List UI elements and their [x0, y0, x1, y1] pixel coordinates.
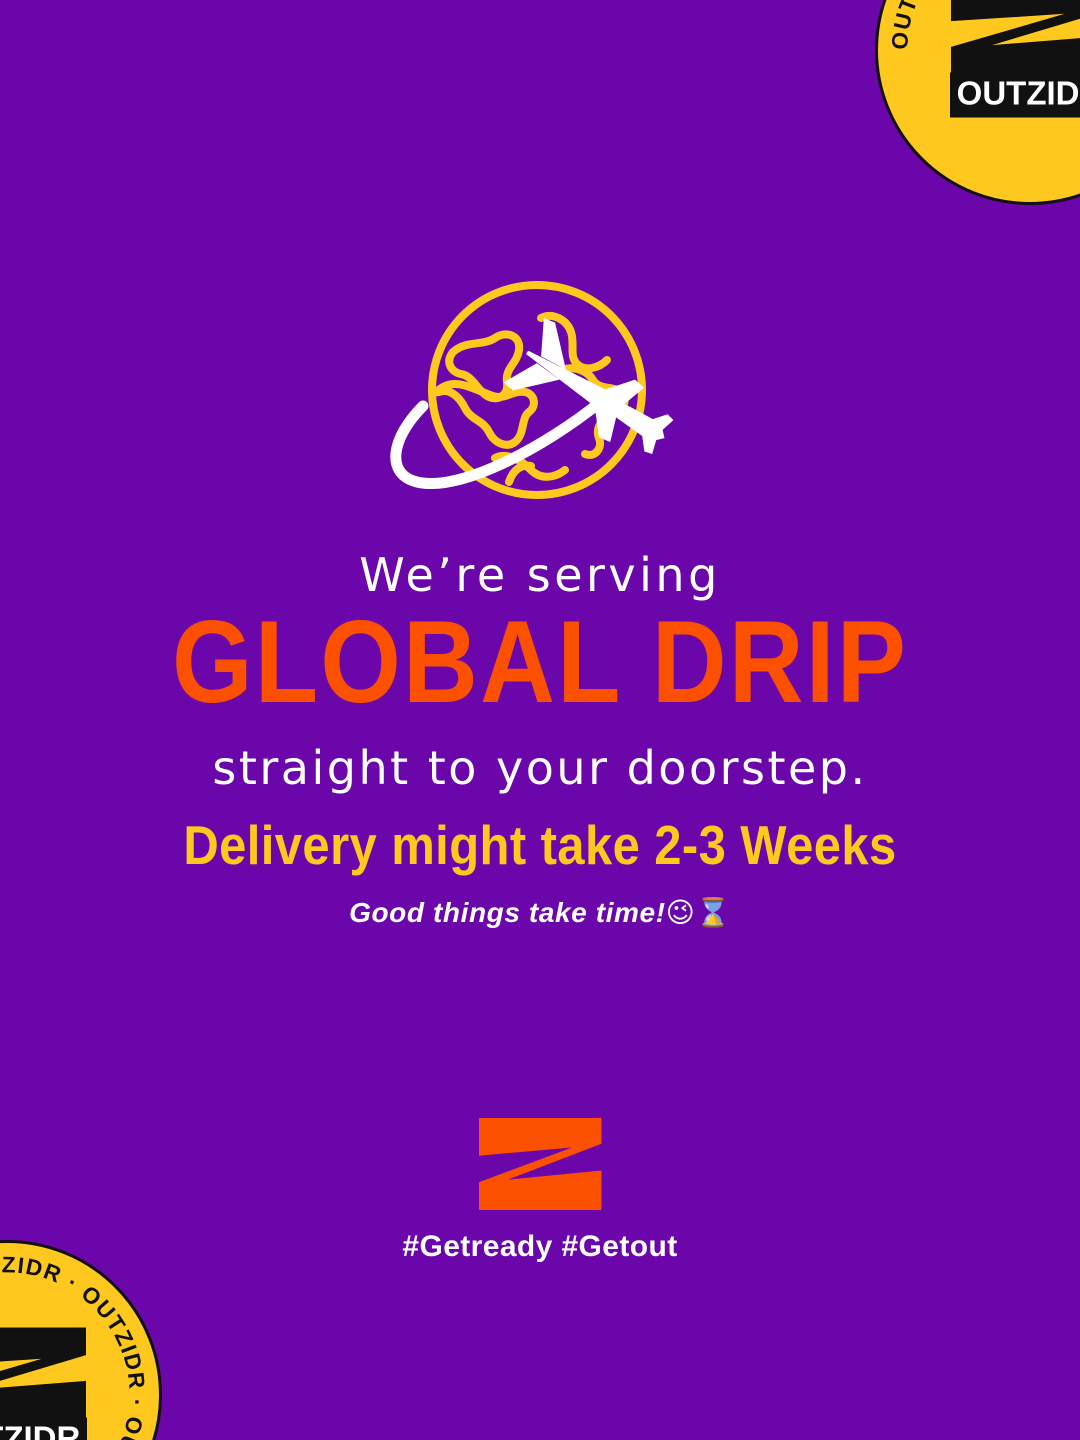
delivery-time-text: Delivery might take 2-3 Weeks	[0, 817, 1080, 877]
delivery-subtext: Good things take time!😉⌛	[0, 896, 1080, 929]
headline-block: We’re serving GLOBAL DRIP straight to yo…	[0, 550, 1080, 793]
headline-main-line: GLOBAL DRIP	[0, 604, 1080, 721]
outzidr-z-stamp-icon	[0, 1328, 86, 1420]
outzidr-z-logo-icon	[479, 1118, 602, 1210]
brand-hashtags: #Getready #Getout	[402, 1230, 677, 1264]
globe-with-airplane-icon	[355, 272, 725, 512]
badge-core-top-right: OUTZIDR	[942, 0, 1080, 117]
headline-pre-line: We’re serving	[0, 550, 1080, 601]
footer-brand-block: #Getready #Getout	[0, 1118, 1080, 1264]
promo-poster: OUTZIDR · OUTZIDR · OUTZIDR · OUTZIDR · …	[0, 0, 1080, 1440]
delivery-subtext-label: Good things take time!	[349, 897, 666, 928]
globe-continent-africa	[437, 384, 534, 445]
badge-core-bottom-left: OUTZIDR	[0, 1328, 95, 1440]
corner-badge-bottom-left: OUTZIDR · OUTZIDR · OUTZIDR · OUTZIDR · …	[0, 1240, 162, 1440]
wink-face-icon: 😉	[666, 896, 696, 929]
badge-center-word: OUTZIDR	[0, 1418, 87, 1440]
delivery-notice-block: Delivery might take 2-3 Weeks Good thing…	[0, 820, 1080, 929]
corner-badge-top-right: OUTZIDR · OUTZIDR · OUTZIDR · OUTZIDR · …	[875, 0, 1080, 205]
headline-post-line: straight to your doorstep.	[0, 743, 1080, 794]
globe-continent-detail	[509, 466, 531, 482]
hourglass-icon: ⌛	[695, 896, 730, 929]
outzidr-z-stamp-icon	[951, 0, 1080, 75]
badge-center-word: OUTZIDR	[950, 73, 1080, 118]
